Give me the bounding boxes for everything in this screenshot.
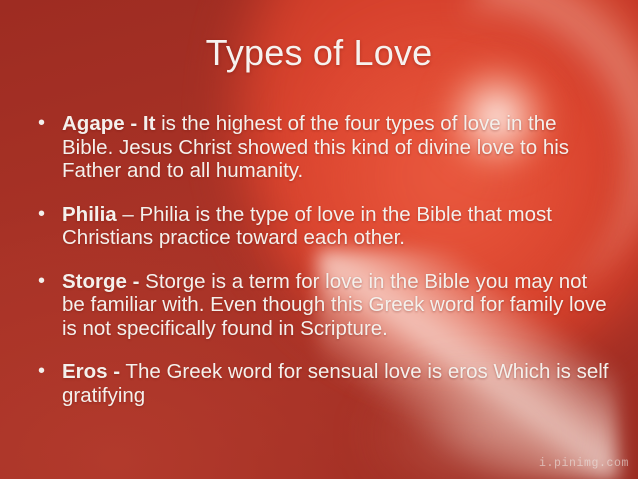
bullet-lead-storge: Storge - (62, 270, 139, 293)
bullet-text-storge: Storge - Storge is a term for love in th… (62, 270, 609, 341)
slide-content: Types of Love • Agape - It is the highes… (0, 0, 638, 479)
bullet-item-philia: • Philia – Philia is the type of love in… (33, 203, 609, 250)
bullet-body-storge: Storge is a term for love in the Bible y… (62, 270, 607, 340)
bullet-marker-icon: • (33, 270, 62, 293)
bullet-marker-icon: • (33, 112, 62, 135)
bullet-lead-eros: Eros - (62, 360, 120, 383)
bullet-marker-icon: • (33, 360, 62, 383)
bullet-item-eros: • Eros - The Greek word for sensual love… (33, 360, 609, 407)
bullet-item-storge: • Storge - Storge is a term for love in … (33, 270, 609, 341)
bullet-body-eros: The Greek word for sensual love is eros … (62, 360, 609, 407)
watermark-label: i.pinimg.com (539, 457, 629, 470)
bullet-list: • Agape - It is the highest of the four … (33, 112, 609, 427)
slide-title: Types of Love (0, 32, 638, 74)
bullet-marker-icon: • (33, 203, 62, 226)
bullet-lead-agape: Agape - It (62, 112, 155, 135)
bullet-item-agape: • Agape - It is the highest of the four … (33, 112, 609, 183)
bullet-body-philia: – Philia is the type of love in the Bibl… (62, 203, 552, 250)
bullet-text-philia: Philia – Philia is the type of love in t… (62, 203, 609, 250)
slide-canvas: Types of Love • Agape - It is the highes… (0, 0, 638, 479)
bullet-text-eros: Eros - The Greek word for sensual love i… (62, 360, 609, 407)
bullet-text-agape: Agape - It is the highest of the four ty… (62, 112, 609, 183)
bullet-lead-philia: Philia (62, 203, 117, 226)
